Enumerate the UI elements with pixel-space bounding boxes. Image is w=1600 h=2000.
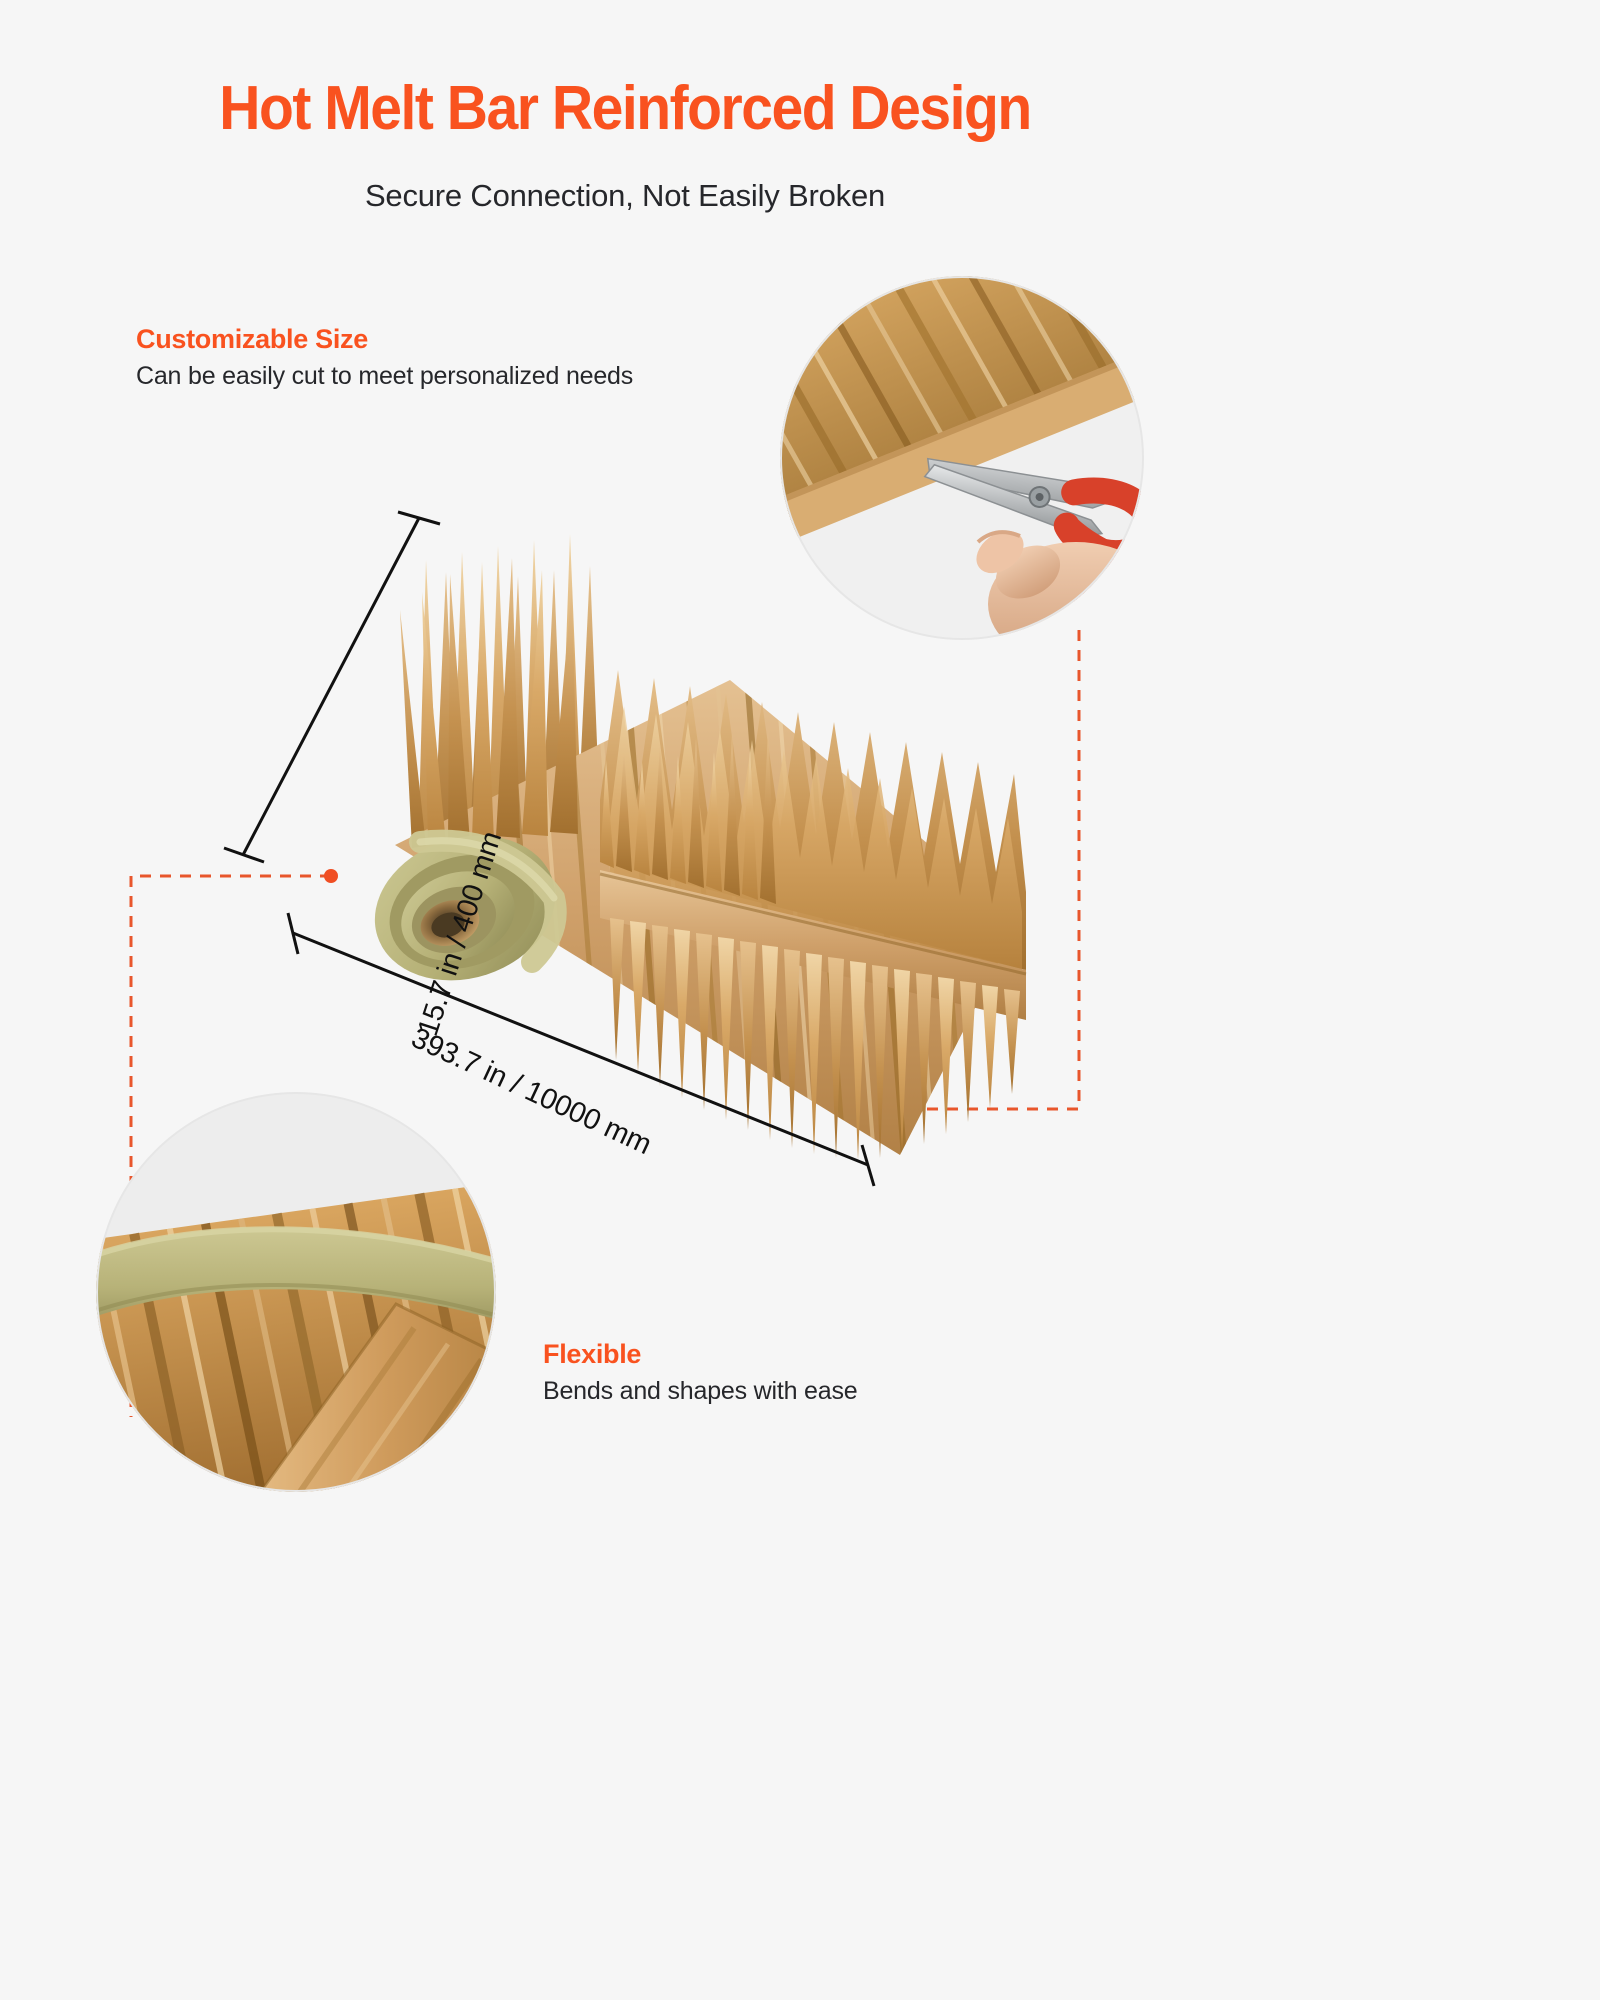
infographic-canvas: Hot Melt Bar Reinforced Design Secure Co… — [0, 0, 1250, 2000]
feature-description: Can be easily cut to meet personalized n… — [136, 361, 633, 392]
inset-hot-melt-bar — [96, 1092, 496, 1492]
feature-customizable-size: Customizable Size Can be easily cut to m… — [136, 325, 633, 392]
feature-description: Bends and shapes with ease — [543, 1376, 857, 1407]
dim-tick-length-left — [288, 913, 298, 954]
feature-title: Customizable Size — [136, 325, 633, 355]
page-subtitle: Secure Connection, Not Easily Broken — [0, 178, 1250, 214]
inset-cutting-thatch — [780, 276, 1144, 640]
melt-bar-scene — [96, 1092, 496, 1492]
dim-tick-width-bottom — [224, 848, 264, 862]
scissors-scene — [780, 276, 1144, 640]
feature-title: Flexible — [543, 1340, 857, 1370]
feature-flexible: Flexible Bends and shapes with ease — [543, 1340, 857, 1407]
page-title: Hot Melt Bar Reinforced Design — [50, 78, 1200, 140]
